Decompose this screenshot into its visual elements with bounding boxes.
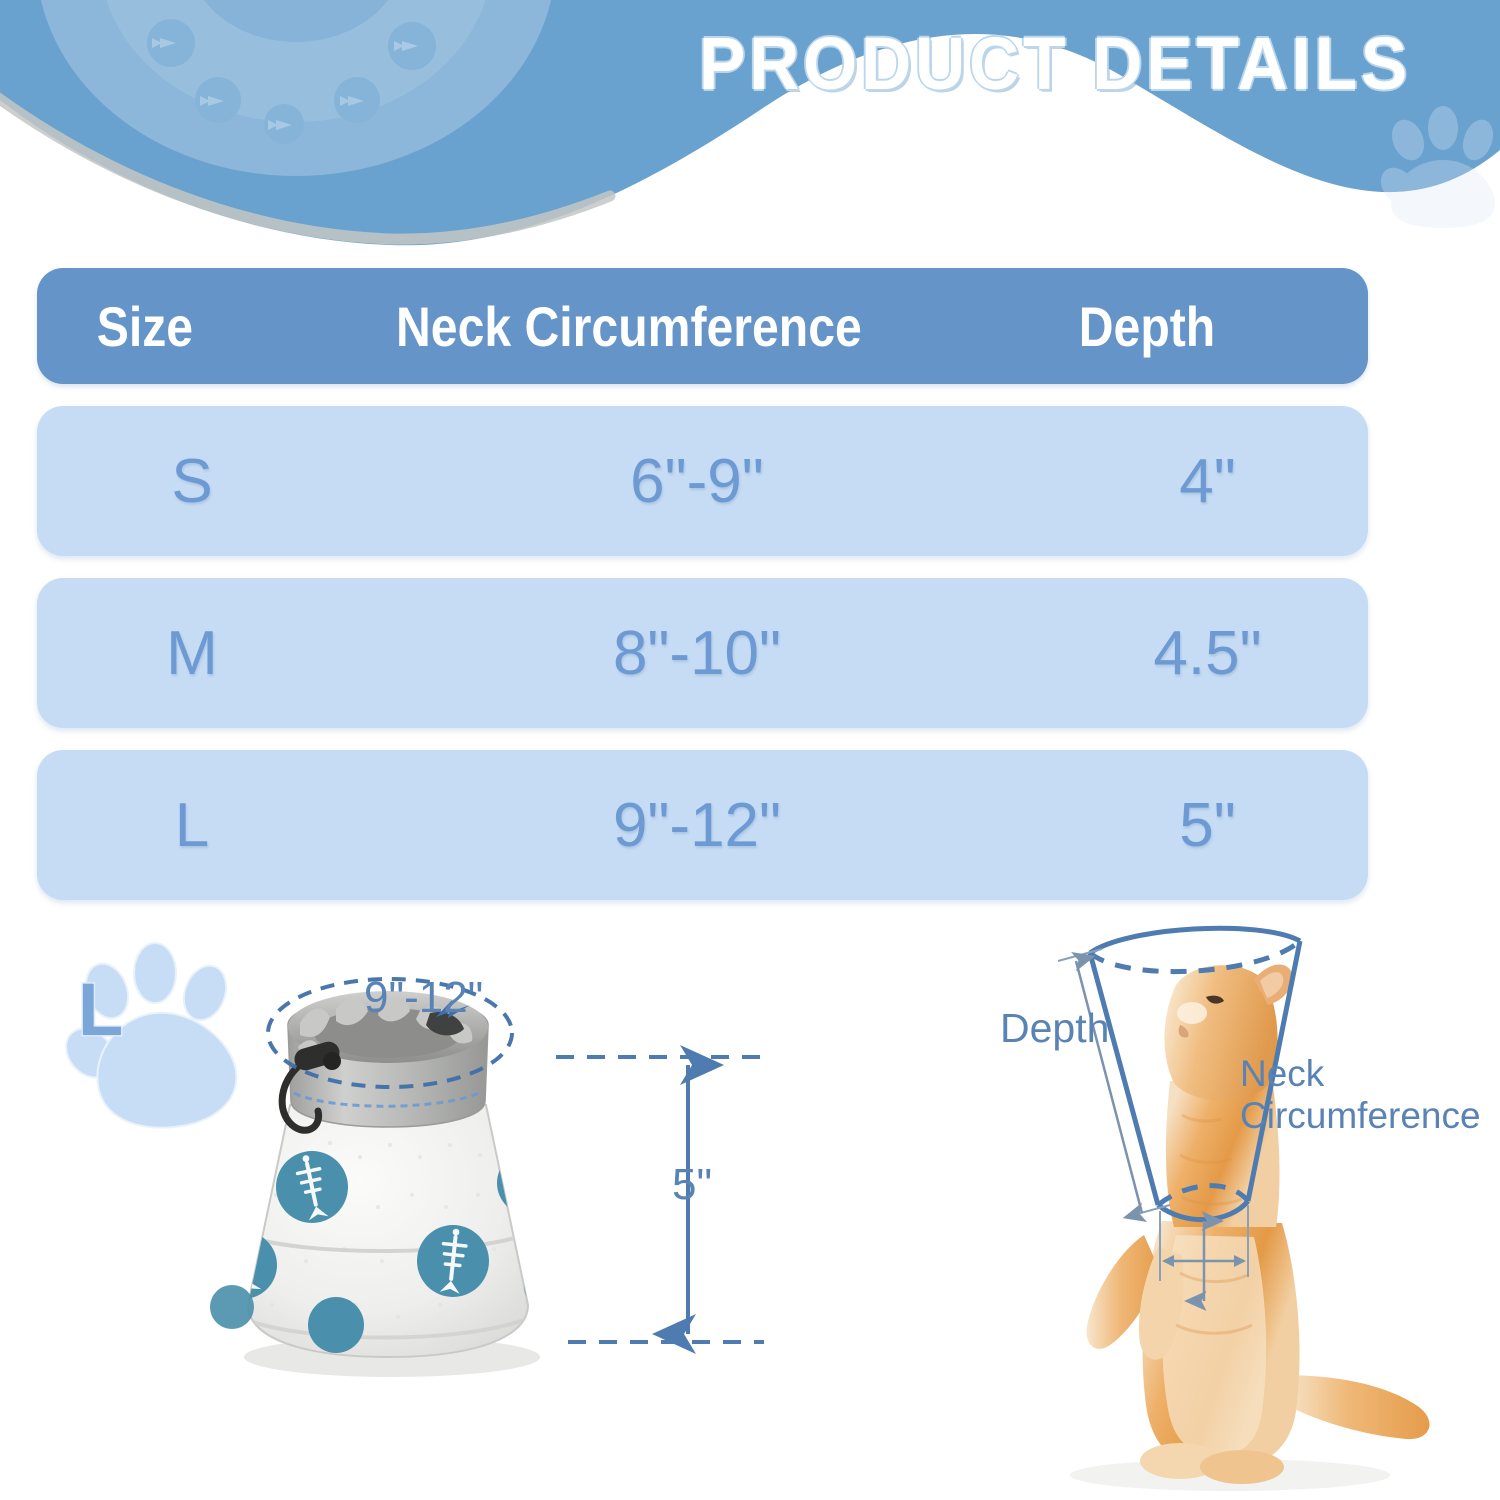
cell-size: M	[37, 618, 347, 689]
cone-body	[248, 1105, 528, 1357]
column-header-depth: Depth	[1079, 294, 1346, 359]
cone-top-rim-dashed	[1090, 941, 1300, 972]
cat-depth-label: Depth	[1000, 1005, 1109, 1052]
figures-section: L 9"-12" 5"	[0, 905, 1500, 1500]
cell-size: S	[37, 446, 347, 517]
cell-depth: 4"	[1047, 446, 1368, 517]
table-row: L 9"-12" 5"	[37, 750, 1368, 900]
depth-measurement-label: 5"	[672, 1160, 712, 1210]
size-chart-table: Size Neck Circumference Depth S 6"-9" 4"…	[37, 268, 1368, 900]
product-details-page: PRODUCT DETAILS Size Neck Circumference …	[0, 0, 1500, 1500]
cat-illustration	[1087, 964, 1430, 1484]
cell-size: L	[37, 790, 347, 861]
cat-neck-label-line2: Circumference	[1240, 1095, 1481, 1136]
cell-depth: 4.5"	[1047, 618, 1368, 689]
cat-tail	[1282, 1375, 1429, 1439]
table-header-row: Size Neck Circumference Depth	[37, 268, 1368, 384]
cat-neck-label: Neck Circumference	[1240, 1053, 1460, 1137]
column-header-size: Size	[58, 294, 316, 359]
cell-depth: 5"	[1047, 790, 1368, 861]
size-badge-letter: L	[78, 967, 123, 1052]
depth-double-arrow-icon	[1076, 961, 1142, 1213]
cell-neck: 9"-12"	[347, 790, 1047, 861]
depth-dimension-lines	[1058, 949, 1170, 1217]
column-header-neck-circumference: Neck Circumference	[387, 294, 1006, 359]
header-banner: PRODUCT DETAILS	[0, 0, 1500, 265]
cat-neck-label-line1: Neck	[1240, 1053, 1324, 1094]
neck-measurement-label: 9"-12"	[364, 973, 483, 1023]
cell-neck: 6"-9"	[347, 446, 1047, 517]
cat-diagram-figure	[930, 905, 1500, 1500]
page-title: PRODUCT DETAILS	[641, 18, 1468, 108]
cell-neck: 8"-10"	[347, 618, 1047, 689]
depth-dimension-lines	[556, 1057, 764, 1342]
table-row: M 8"-10" 4.5"	[37, 578, 1368, 728]
table-row: S 6"-9" 4"	[37, 406, 1368, 556]
